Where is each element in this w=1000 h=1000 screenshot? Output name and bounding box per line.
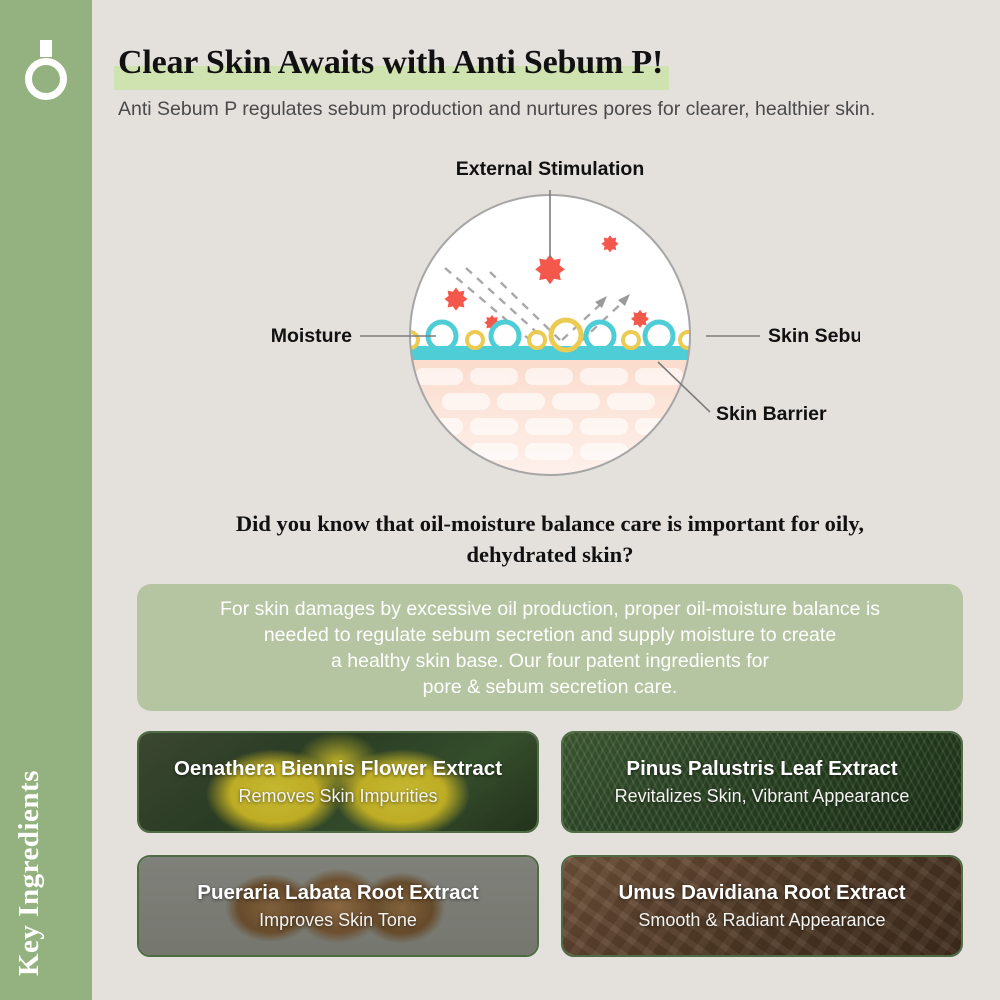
brand-sidebar: Key Ingredients <box>0 0 92 1000</box>
ingredient-benefit: Revitalizes Skin, Vibrant Appearance <box>615 784 910 809</box>
callout-line-2: needed to regulate sebum secretion and s… <box>264 624 836 646</box>
logo-dot-icon <box>40 40 52 57</box>
skin-diagram-svg: External Stimulation Moisture Skin Sebum… <box>240 150 860 495</box>
ingredient-benefit: Smooth & Radiant Appearance <box>618 908 905 933</box>
key-ingredients-vertical-label: Key Ingredients <box>13 770 46 976</box>
letter-o-logo-icon <box>0 36 92 106</box>
ingredient-benefit: Removes Skin Impurities <box>174 784 502 809</box>
page-subtitle: Anti Sebum P regulates sebum production … <box>118 96 908 123</box>
callout-text: For skin damages by excessive oil produc… <box>202 596 898 700</box>
ingredient-card-pinus-palustris[interactable]: Pinus Palustris Leaf Extract Revitalizes… <box>561 731 963 833</box>
ingredient-card-pueraria-labata[interactable]: Pueraria Labata Root Extract Improves Sk… <box>137 855 539 957</box>
ingredient-benefit: Improves Skin Tone <box>197 908 478 933</box>
ingredient-name: Umus Davidiana Root Extract <box>618 880 905 906</box>
ingredient-card-oenathera-biennis[interactable]: Oenathera Biennis Flower Extract Removes… <box>137 731 539 833</box>
page-title: Clear Skin Awaits with Anti Sebum P! <box>118 40 663 86</box>
skin-structure-diagram: External Stimulation Moisture Skin Sebum… <box>240 150 860 495</box>
header: Clear Skin Awaits with Anti Sebum P! Ant… <box>118 40 978 123</box>
label-moisture: Moisture <box>271 325 352 347</box>
ingredient-card-umus-davidiana[interactable]: Umus Davidiana Root Extract Smooth & Rad… <box>561 855 963 957</box>
callout-line-3: a healthy skin base. Our four patent ing… <box>331 650 769 672</box>
card-text: Oenathera Biennis Flower Extract Removes… <box>164 756 512 809</box>
callout-line-1: For skin damages by excessive oil produc… <box>220 598 880 620</box>
did-you-know-heading: Did you know that oil-moisture balance c… <box>150 508 950 570</box>
ingredient-name: Pinus Palustris Leaf Extract <box>615 756 910 782</box>
ingredient-name: Oenathera Biennis Flower Extract <box>174 756 502 782</box>
ingredient-name: Pueraria Labata Root Extract <box>197 880 478 906</box>
label-skin-sebum: Skin Sebum <box>768 325 860 347</box>
question-line-2: dehydrated skin? <box>150 539 950 570</box>
callout-box: For skin damages by excessive oil produc… <box>137 584 963 711</box>
logo-ring-icon <box>25 58 67 100</box>
callout-line-4: pore & sebum secretion care. <box>423 676 678 698</box>
label-external-stimulation: External Stimulation <box>456 158 645 180</box>
ingredient-card-grid: Oenathera Biennis Flower Extract Removes… <box>137 731 963 957</box>
card-text: Pinus Palustris Leaf Extract Revitalizes… <box>605 756 920 809</box>
question-line-1: Did you know that oil-moisture balance c… <box>150 508 950 539</box>
label-skin-barrier: Skin Barrier <box>716 403 827 425</box>
card-text: Pueraria Labata Root Extract Improves Sk… <box>187 880 488 933</box>
page-title-wrapper: Clear Skin Awaits with Anti Sebum P! <box>118 40 663 86</box>
card-text: Umus Davidiana Root Extract Smooth & Rad… <box>608 880 915 933</box>
